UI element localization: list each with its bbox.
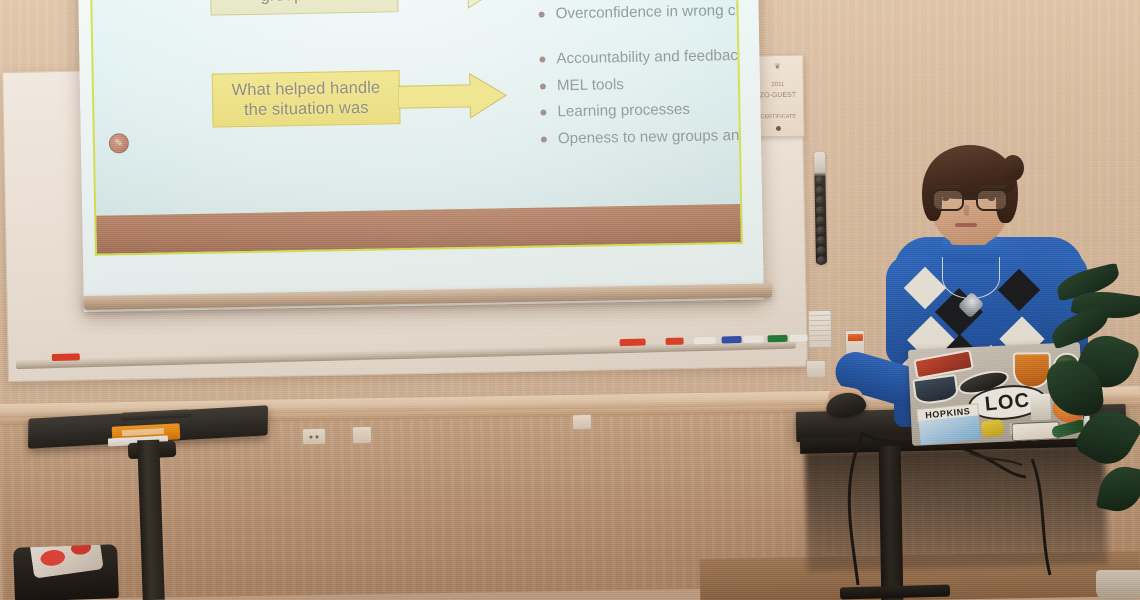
potted-plant	[1046, 270, 1140, 600]
chain-bead-icon	[817, 256, 826, 265]
whiteboard-marker[interactable]	[620, 339, 646, 347]
slide-bullet-item: Accountability and feedback tools	[539, 45, 742, 70]
hair-bun	[1002, 155, 1024, 181]
power-outlet[interactable]	[302, 428, 326, 446]
trash-contents	[29, 544, 104, 578]
whiteboard-marker[interactable]	[694, 337, 716, 345]
poster-line-1: 2011	[771, 82, 784, 88]
poster-line-2: ZO-GUEST	[760, 92, 796, 100]
slide-bullet-item: Learning processes	[540, 98, 742, 123]
projected-slide: groups or opponents; "We implemented it …	[88, 0, 742, 218]
chain-bead-icon	[815, 176, 824, 185]
chain-bead-icon	[816, 206, 825, 215]
glasses-icon	[930, 189, 1012, 211]
plant-pot	[1096, 570, 1140, 600]
bullet-dot-icon	[540, 110, 546, 116]
whiteboard-marker[interactable]	[744, 335, 764, 343]
wall-vent-plate	[808, 310, 833, 348]
slide-pen-cursor-icon[interactable]: ✎	[109, 133, 129, 153]
light-switch[interactable]	[352, 426, 372, 445]
chain-bead-icon	[816, 226, 825, 235]
chain-bead-icon	[815, 186, 824, 195]
chain-bead-icon	[816, 236, 825, 245]
whiteboard-marker[interactable]	[52, 353, 80, 361]
bullet-label: Accountability and feedback tools	[556, 45, 742, 70]
bullet-dot-icon	[540, 83, 546, 89]
poster-line-3: CERTIFICATE	[760, 114, 796, 120]
bullet-label: MEL tools	[557, 75, 624, 97]
poster-logo-icon: ❦	[774, 62, 781, 71]
glasses-lens-right	[976, 189, 1008, 211]
blue-map-sticker	[919, 415, 981, 445]
wall-junction-box	[806, 360, 826, 378]
switch-indicator-icon	[848, 334, 863, 341]
nose	[964, 205, 969, 216]
callout-arrow-2-icon	[398, 71, 509, 121]
bullet-group-helped: Accountability and feedback toolsMEL too…	[539, 45, 742, 156]
poster-seal-icon	[776, 126, 781, 131]
projection-screen: groups or opponents; "We implemented it …	[77, 0, 764, 312]
bullet-dot-icon	[539, 57, 545, 63]
bullet-group-outcomes: Poor decision-makingIgnoring risks and a…	[537, 0, 742, 31]
callout-arrow-1-icon	[396, 0, 507, 12]
bullet-dot-icon	[539, 12, 545, 18]
trash-bin	[13, 544, 119, 600]
plant-leaf	[1096, 462, 1140, 516]
eyebrow-right	[980, 185, 1006, 188]
wall-socket-right[interactable]	[572, 414, 592, 431]
bullet-dot-icon	[541, 136, 547, 142]
slide-bullet-item: Overconfidence in wrong choices	[538, 0, 742, 25]
chain-bead-icon	[816, 216, 825, 225]
eyebrow-left	[934, 185, 960, 188]
whiteboard-marker[interactable]	[767, 335, 787, 343]
chain-bead-icon	[816, 196, 825, 205]
whiteboard-marker[interactable]	[789, 334, 807, 341]
loc-sticker-text: LOC	[984, 390, 1031, 414]
slide-bullet-item: Openess to new groups and ideas	[541, 125, 742, 150]
bullet-label: Learning processes	[557, 100, 690, 123]
slide-bullet-item: MEL tools	[540, 72, 742, 97]
whiteboard-marker[interactable]	[666, 338, 684, 345]
chain-bead-icon	[816, 246, 825, 255]
bead-chain-icon[interactable]	[815, 176, 825, 262]
bullet-label: Overconfidence in wrong choices	[555, 0, 742, 25]
callout-helped: What helped handle the situation was	[212, 70, 401, 127]
callout-helped-label: What helped handle the situation was	[221, 77, 392, 120]
mouth	[955, 223, 977, 227]
whiteboard-marker[interactable]	[722, 336, 742, 344]
callout-outcomes: What outcomes of groupthink?	[210, 0, 399, 16]
yellow-round-sticker	[981, 419, 1005, 437]
bullet-label: Openess to new groups and ideas	[558, 125, 742, 150]
classroom-scene: ❦ 2011 ZO-GUEST CERTIFICATE groups or op…	[0, 0, 1140, 600]
glasses-lens-left	[932, 189, 964, 211]
shield-sticker	[912, 374, 959, 406]
callout-outcomes-label: What outcomes of groupthink?	[219, 0, 390, 7]
